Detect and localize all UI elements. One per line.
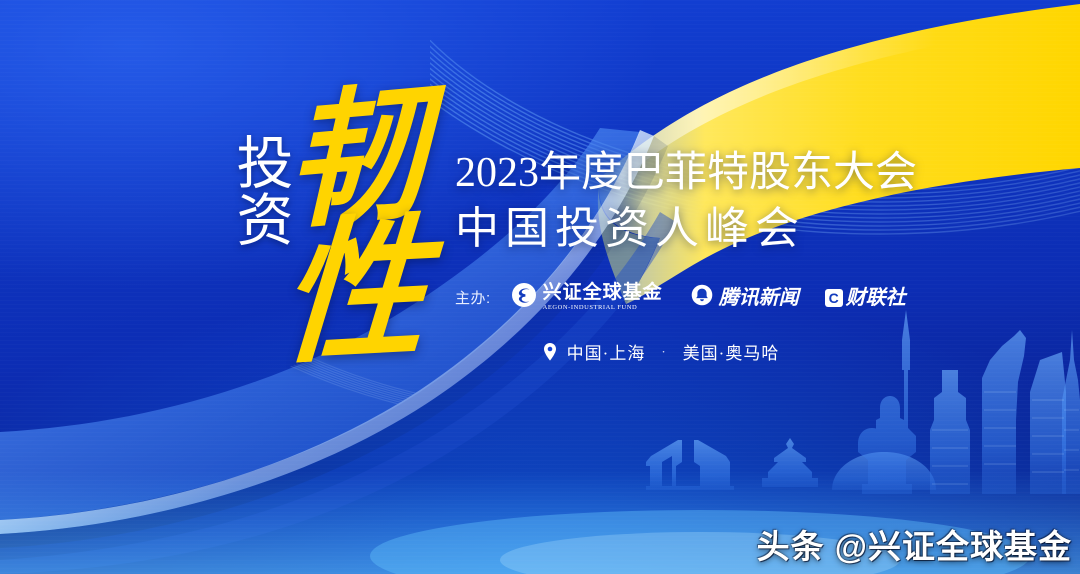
calligraphy-block: 投资 韧 性: [0, 0, 440, 574]
swirl-logo-icon: [511, 282, 537, 313]
building-window-lines: [932, 392, 1079, 484]
sponsor-label: 主办:: [455, 287, 491, 308]
calligraphy-gold-char-2: 性: [276, 212, 431, 374]
sponsor-3-name-cn: 财联社: [846, 287, 906, 309]
sponsor-2-name-cn: 腾讯新闻: [719, 287, 799, 309]
sponsor-1-text: 兴证全球基金 AEGON-INDUSTRIAL FUND: [543, 283, 663, 312]
venue-city-cn: 中国·上海: [567, 339, 646, 364]
cls-badge-icon: C: [825, 289, 843, 307]
sponsor-row: 主办: 兴证全球基金 AEGON-INDUSTRIAL FUND: [455, 282, 885, 313]
sponsor-aegon-industrial-fund[interactable]: 兴证全球基金 AEGON-INDUSTRIAL FUND: [511, 282, 663, 313]
poster-canvas: 投资 韧 性 2023年度巴菲特股东大会 中国投资人峰会 主办: 兴证全球基金 …: [0, 0, 1080, 574]
sponsor-1-name-en: AEGON-INDUSTRIAL FUND: [543, 303, 663, 312]
venue-city-us: 美国·奥马哈: [683, 339, 780, 364]
sponsor-cls[interactable]: C 财联社: [825, 287, 906, 309]
watermark-text: 头条 @兴证全球基金: [757, 520, 1072, 568]
location-pin-icon: [543, 343, 557, 361]
headline-line-2: 中国投资人峰会: [455, 202, 885, 256]
sponsor-tencent-news[interactable]: 腾讯新闻: [691, 284, 799, 311]
info-block: 2023年度巴菲特股东大会 中国投资人峰会 主办: 兴证全球基金 AEGON-I…: [455, 148, 885, 364]
sponsor-1-name-cn: 兴证全球基金: [543, 283, 663, 303]
tencent-news-bell-icon: [691, 284, 713, 311]
headline-line-1: 2023年度巴菲特股东大会: [455, 148, 885, 198]
venue-separator: ·: [655, 344, 672, 360]
venue-row: 中国·上海 · 美国·奥马哈: [455, 339, 885, 364]
